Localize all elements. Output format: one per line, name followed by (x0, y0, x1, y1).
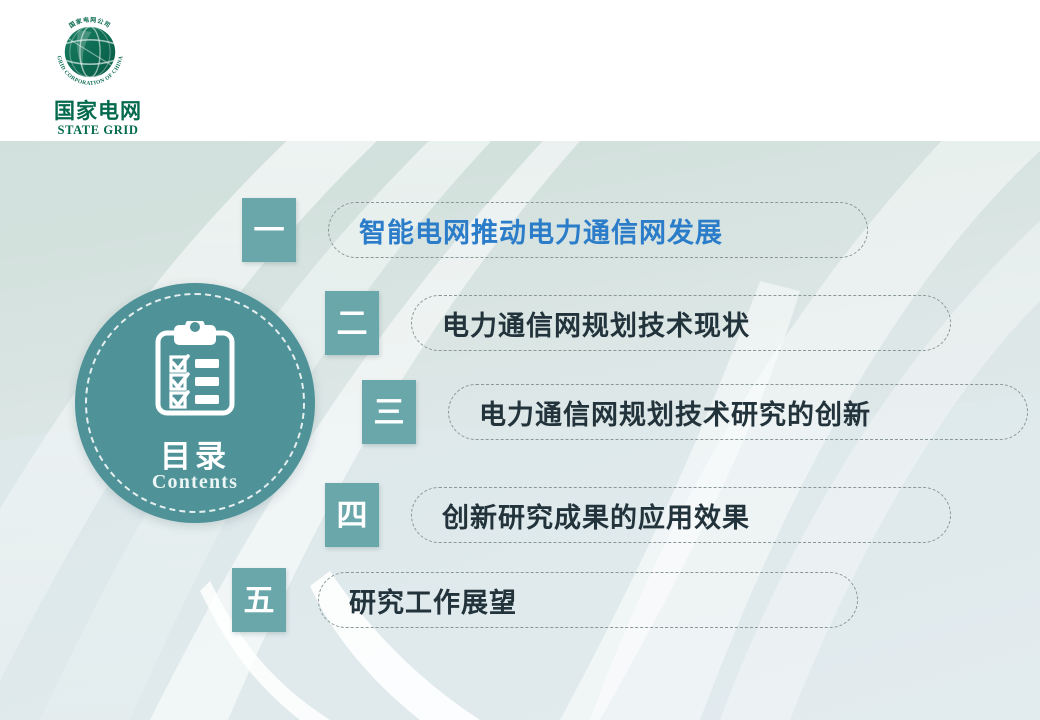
item-number-4: 四 (325, 483, 379, 547)
item-number-2: 二 (325, 291, 379, 355)
contents-badge: 目录 Contents (75, 283, 315, 523)
logo-name-cn: 国家电网 (42, 100, 154, 122)
item-number-5: 五 (232, 568, 286, 632)
item-number-3: 三 (362, 380, 416, 444)
contents-title-cn: 目录 (75, 431, 315, 476)
item-pill-5[interactable]: 研究工作展望 (318, 572, 858, 628)
slide-header: 国家电网公司 GRID CORPORATION OF CHINA 国家电网 ST… (0, 0, 1040, 141)
logo-name-en: STATE GRID (36, 123, 160, 138)
item-pill-4[interactable]: 创新研究成果的应用效果 (411, 487, 951, 543)
item-pill-3[interactable]: 电力通信网规划技术研究的创新 (448, 384, 1028, 440)
item-label-3: 电力通信网规划技术研究的创新 (479, 393, 871, 432)
item-number-1: 一 (242, 198, 296, 262)
contents-title-en: Contents (75, 471, 315, 494)
item-label-5: 研究工作展望 (349, 581, 517, 620)
item-label-2: 电力通信网规划技术现状 (442, 304, 750, 343)
item-label-4: 创新研究成果的应用效果 (442, 496, 750, 535)
state-grid-logo: 国家电网公司 GRID CORPORATION OF CHINA 国家电网 ST… (26, 10, 166, 135)
item-pill-2[interactable]: 电力通信网规划技术现状 (411, 295, 951, 351)
clipboard-checklist-icon (152, 321, 238, 421)
item-label-1: 智能电网推动电力通信网发展 (359, 211, 723, 250)
slide-root: 国家电网公司 GRID CORPORATION OF CHINA 国家电网 ST… (0, 0, 1040, 720)
item-pill-1[interactable]: 智能电网推动电力通信网发展 (328, 202, 868, 258)
state-grid-globe-icon: 国家电网公司 GRID CORPORATION OF CHINA (48, 10, 132, 94)
